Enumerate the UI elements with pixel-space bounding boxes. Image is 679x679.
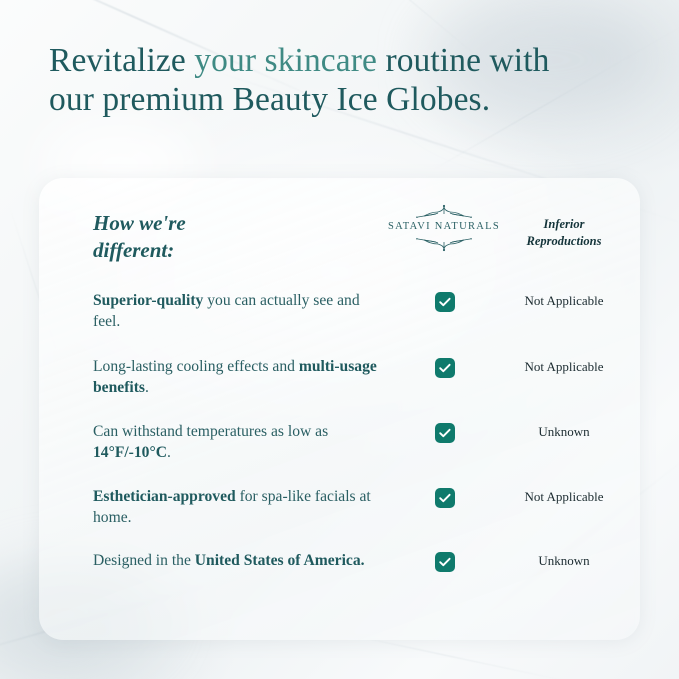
headline-segment-1: Revitalize	[49, 42, 194, 79]
inferior-value: Not Applicable	[494, 489, 634, 505]
feature-text: Designed in the United States of America…	[93, 550, 383, 571]
brand-check-cell	[405, 488, 485, 508]
checkmark-icon	[435, 488, 455, 508]
brand-check-cell	[405, 358, 485, 378]
ornament-bottom-icon	[384, 234, 504, 252]
comparison-row: Esthetician-approved for spa-like facial…	[39, 486, 640, 550]
ornament-top-icon	[384, 204, 504, 220]
checkmark-icon	[435, 358, 455, 378]
comparison-row: Designed in the United States of America…	[39, 550, 640, 614]
feature-text: Esthetician-approved for spa-like facial…	[93, 486, 383, 528]
comparison-row: Superior-quality you can actually see an…	[39, 290, 640, 354]
comparison-row: Can withstand temperatures as low as 14°…	[39, 421, 640, 485]
left-column-title-line-2: different:	[93, 238, 174, 262]
headline-accent: your skincare	[194, 42, 377, 79]
right-column-title-line-2: Reproductions	[526, 234, 601, 248]
inferior-value: Unknown	[494, 553, 634, 569]
checkmark-icon	[435, 552, 455, 572]
comparison-card: How we're different:	[39, 178, 640, 640]
right-column-title: Inferior Reproductions	[494, 216, 634, 250]
headline-line-2: our premium Beauty Ice Globes.	[49, 81, 490, 118]
brand-check-cell	[405, 423, 485, 443]
inferior-value: Not Applicable	[494, 359, 634, 375]
brand-check-cell	[405, 292, 485, 312]
headline: Revitalize your skincare routine with ou…	[49, 41, 649, 119]
checkmark-icon	[435, 423, 455, 443]
inferior-value: Not Applicable	[494, 293, 634, 309]
right-column-title-line-1: Inferior	[544, 217, 585, 231]
marble-background-page: Revitalize your skincare routine with ou…	[0, 0, 679, 679]
headline-segment-2: routine with	[377, 42, 550, 79]
inferior-value: Unknown	[494, 424, 634, 440]
checkmark-icon	[435, 292, 455, 312]
feature-text: Long-lasting cooling effects and multi-u…	[93, 356, 383, 398]
comparison-row: Long-lasting cooling effects and multi-u…	[39, 356, 640, 420]
comparison-grid: How we're different:	[39, 178, 640, 640]
feature-text: Can withstand temperatures as low as 14°…	[93, 421, 383, 463]
brand-check-cell	[405, 552, 485, 572]
feature-text: Superior-quality you can actually see an…	[93, 290, 383, 332]
left-column-title: How we're different:	[93, 210, 343, 264]
left-column-title-line-1: How we're	[93, 211, 186, 235]
